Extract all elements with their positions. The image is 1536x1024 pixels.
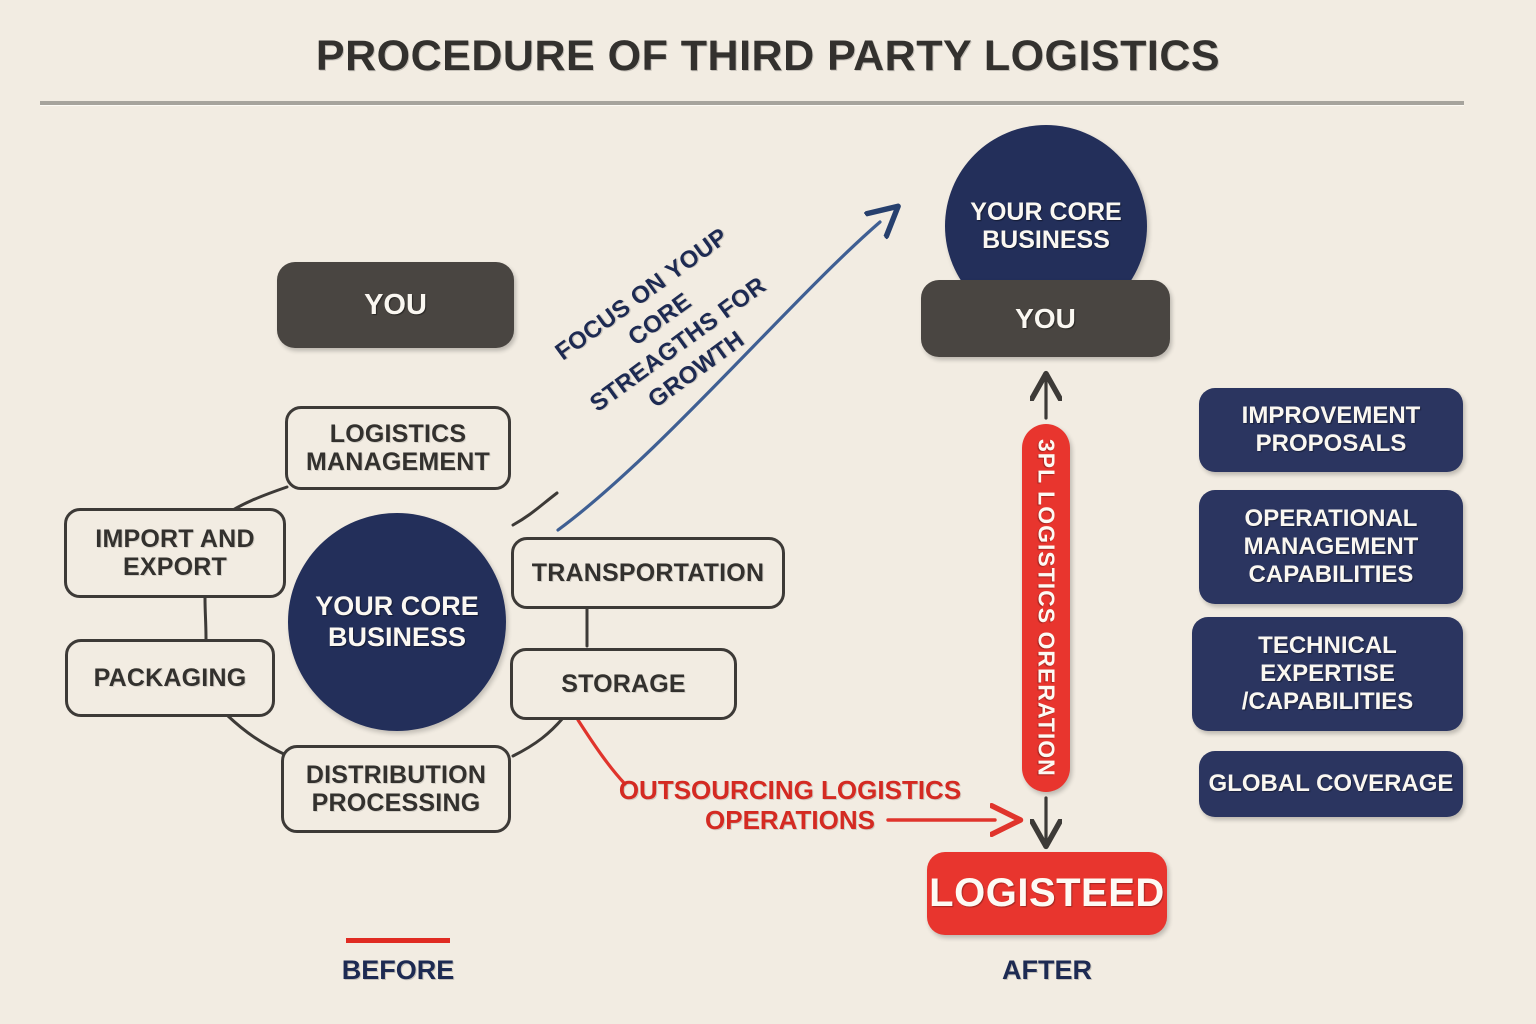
you-label-after: YOU	[1015, 303, 1076, 334]
you-label-before: YOU	[364, 289, 427, 321]
3pl-operation-bar[interactable]: 3PL LOGISTICS ORERATION	[1022, 424, 1070, 792]
title-divider	[40, 101, 1464, 105]
capability-label: TECHNICALEXPERTISE/CAPABILITIES	[1242, 632, 1414, 715]
growth-arrow-label: FOCUS ON YOUP CORESTREAGTHS FOR GROWTH	[502, 172, 836, 491]
core-business-label-after: YOUR COREBUSINESS	[970, 198, 1121, 255]
logisteed-button[interactable]: LOGISTEED	[927, 852, 1167, 935]
capability-operational-management[interactable]: OPERATIONALMANAGEMENTCAPABILITIES	[1199, 490, 1463, 604]
node-label: LOGISTICSMANAGEMENT	[306, 420, 490, 476]
outsourcing-callout: OUTSOURCING LOGISTICSOPERATIONS	[600, 775, 980, 836]
infographic-canvas: PROCEDURE OF THIRD PARTY LOGISTICS YOU Y…	[0, 0, 1536, 1024]
capability-technical-expertise[interactable]: TECHNICALEXPERTISE/CAPABILITIES	[1192, 617, 1463, 731]
capability-label: IMPROVEMENTPROPOSALS	[1242, 402, 1421, 458]
core-business-label-before: YOUR COREBUSINESS	[315, 591, 479, 653]
capability-label: GLOBAL COVERAGE	[1209, 770, 1454, 798]
node-logistics-management[interactable]: LOGISTICSMANAGEMENT	[285, 406, 511, 490]
node-label: IMPORT ANDEXPORT	[95, 525, 254, 581]
capability-label: OPERATIONALMANAGEMENTCAPABILITIES	[1244, 505, 1419, 588]
node-distribution-processing[interactable]: DISTRIBUTIONPROCESSING	[281, 745, 511, 833]
capability-improvement-proposals[interactable]: IMPROVEMENTPROPOSALS	[1199, 388, 1463, 472]
you-box-before[interactable]: YOU	[277, 262, 514, 348]
you-box-after[interactable]: YOU	[921, 280, 1170, 357]
node-label: TRANSPORTATION	[532, 559, 764, 587]
page-title: PROCEDURE OF THIRD PARTY LOGISTICS	[0, 32, 1536, 81]
node-packaging[interactable]: PACKAGING	[65, 639, 275, 717]
before-label: BEFORE	[298, 955, 498, 986]
node-storage[interactable]: STORAGE	[510, 648, 737, 720]
node-transportation[interactable]: TRANSPORTATION	[511, 537, 785, 609]
node-label: STORAGE	[561, 670, 686, 698]
node-import-and-export[interactable]: IMPORT ANDEXPORT	[64, 508, 286, 598]
your-core-business-circle-before[interactable]: YOUR COREBUSINESS	[288, 513, 506, 731]
after-label: AFTER	[947, 955, 1147, 986]
capability-global-coverage[interactable]: GLOBAL COVERAGE	[1199, 751, 1463, 817]
node-label: DISTRIBUTIONPROCESSING	[306, 761, 486, 817]
before-accent-dash	[346, 938, 450, 943]
3pl-operation-label: 3PL LOGISTICS ORERATION	[1033, 439, 1060, 777]
logisteed-label: LOGISTEED	[929, 871, 1165, 916]
node-label: PACKAGING	[94, 664, 247, 692]
